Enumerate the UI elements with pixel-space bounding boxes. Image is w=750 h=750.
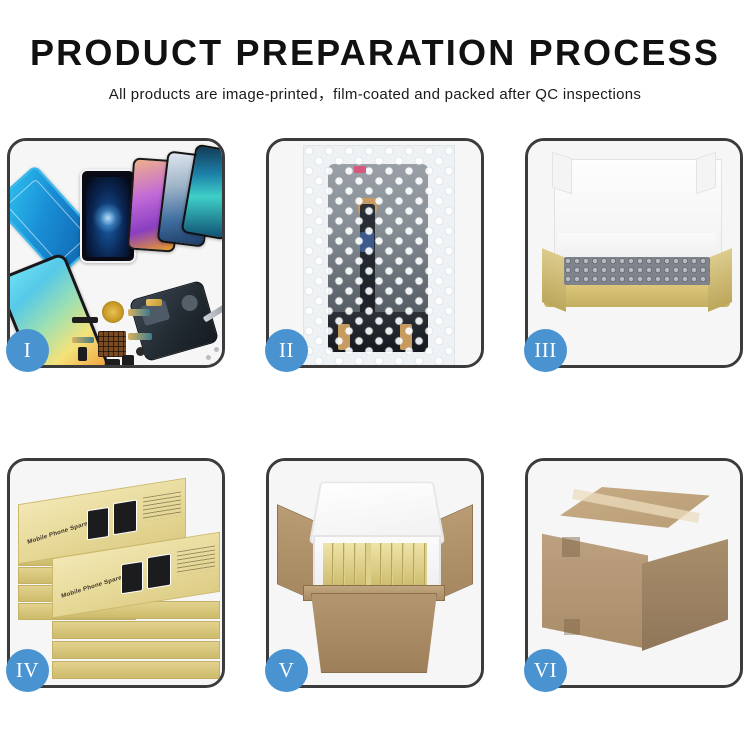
flex-cable-icon [128,333,152,340]
connector-icon [146,299,162,306]
step-4-image: Mobile Phone Spare Parts Mobile Phone Sp… [10,461,222,685]
step-badge-3: III [524,329,567,372]
process-step-3[interactable]: III [525,138,743,368]
box-edge [52,641,220,659]
step-badge-4: IV [6,649,49,692]
step-5-image [269,461,481,685]
step-badge-1: I [6,329,49,372]
button-icon [136,347,145,356]
sealed-carton-icon [542,487,728,655]
tray-box-scene [528,141,740,365]
step-3-image [528,141,740,365]
bubble-wrap-scene [269,141,481,365]
box-stack-scene: Mobile Phone Spare Parts Mobile Phone Sp… [10,461,222,685]
page-title: PRODUCT PREPARATION PROCESS [0,34,750,72]
sealed-carton-scene [528,461,740,685]
speaker-coil-icon [102,301,124,323]
earpiece-bar-icon [72,317,98,323]
carton-front-face [542,529,648,649]
box-edge [52,661,220,679]
lid-flap-left-icon [552,152,572,194]
flex-cable-icon [72,337,94,343]
kraft-boxes-inside-icon [323,543,427,587]
kraft-box-stack: Mobile Phone Spare Parts Mobile Phone Sp… [16,483,220,675]
page-header: PRODUCT PREPARATION PROCESS All products… [0,0,750,104]
carton-body-icon [311,593,437,673]
screw-icon [206,355,211,360]
kraft-box-slab [356,543,366,587]
process-step-6[interactable]: VI [525,458,743,688]
process-step-grid: I II [7,138,743,688]
process-step-4[interactable]: Mobile Phone Spare Parts Mobile Phone Sp… [7,458,225,688]
pink-sticker-icon [354,166,366,173]
screw-icon [210,363,215,365]
box-window-icon [87,507,109,540]
phone-parts-scene [10,141,222,365]
step-badge-5: V [265,649,308,692]
kraft-box-slab [371,543,381,587]
kraft-box-slab [382,543,392,587]
kraft-box-slab [404,543,414,587]
chip-grid-icon [98,331,126,357]
carton-tab-icon [562,537,580,557]
kraft-box-slab [393,543,403,587]
flex-cable-icon [128,309,150,316]
screw-icon [214,347,219,352]
glass-screen-icon [80,169,136,263]
step-badge-2: II [265,329,308,372]
bubble-bag-icon [303,145,455,365]
kraft-box-slab [345,543,355,587]
page-subtitle: All products are image-printed，film-coat… [0,83,750,104]
step-badge-6: VI [524,649,567,692]
camera-module-icon [122,355,134,365]
bubble-wrapped-contents-icon [564,257,710,285]
process-step-5[interactable]: V [266,458,484,688]
box-edge [52,621,220,639]
step-1-image [10,141,222,365]
kraft-box-slab [323,543,333,587]
bubble-texture-icon [304,146,454,365]
carton-side-face [642,539,728,651]
box-window-icon [113,499,137,535]
box-window-icon [147,553,171,589]
kraft-box-slab [334,543,344,587]
process-step-2[interactable]: II [266,138,484,368]
small-module-icon [78,347,87,361]
kraft-box-slab [415,543,425,587]
carton-tab-icon [564,619,580,635]
step-2-image [269,141,481,365]
process-step-1[interactable]: I [7,138,225,368]
box-window-icon [121,561,143,594]
step-6-image [528,461,740,685]
foam-carton-scene [269,461,481,685]
lid-flap-right-icon [696,152,716,194]
vibrator-icon [106,359,120,365]
